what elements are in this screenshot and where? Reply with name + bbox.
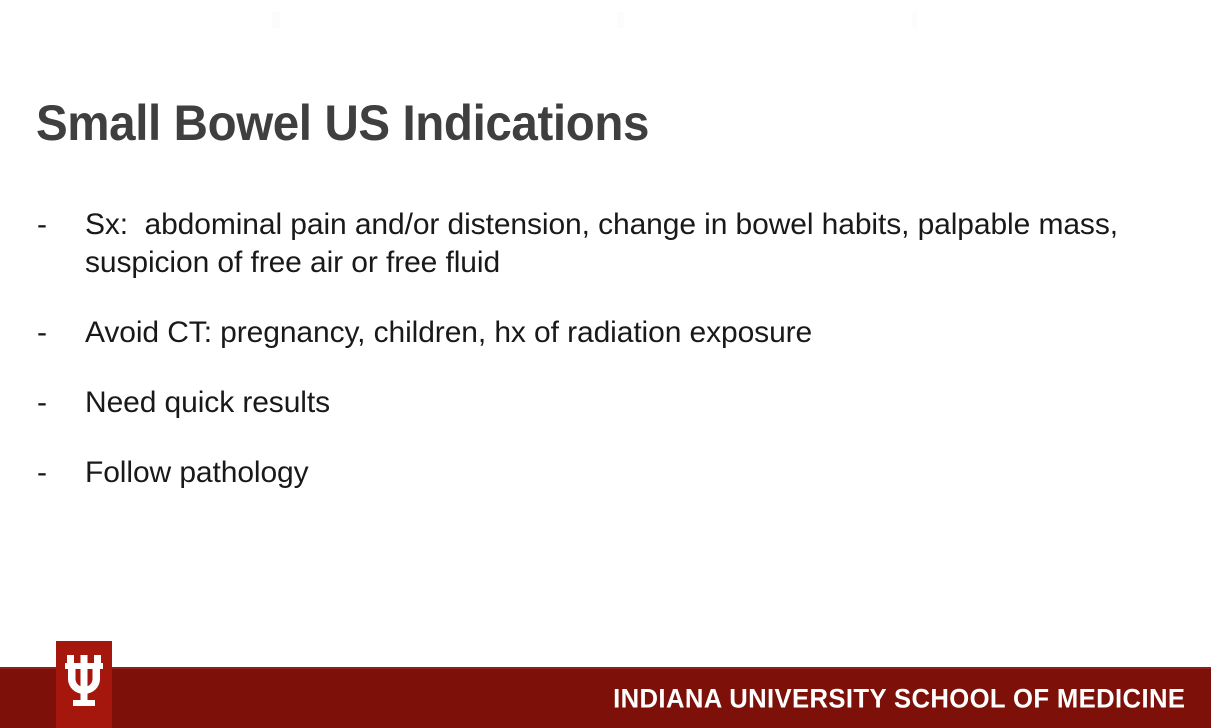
slide: Small Bowel US Indications - Sx: abdomin… — [0, 0, 1211, 728]
bullet-marker: - — [37, 206, 57, 244]
list-item: - Need quick results — [36, 384, 1156, 422]
bullet-text: Avoid CT: pregnancy, children, hx of rad… — [85, 314, 1156, 352]
list-item: - Follow pathology — [36, 454, 1156, 492]
list-item: - Avoid CT: pregnancy, children, hx of r… — [36, 314, 1156, 352]
bullet-text: Need quick results — [85, 384, 1156, 422]
iu-logo-block — [56, 641, 112, 728]
footer-organization-name: INDIANA UNIVERSITY SCHOOL OF MEDICINE — [613, 683, 1185, 714]
bullet-text: Follow pathology — [85, 454, 1156, 492]
slide-title: Small Bowel US Indications — [36, 94, 649, 152]
scan-artifact — [617, 12, 624, 28]
iu-trident-icon — [65, 655, 103, 707]
scan-artifact — [272, 12, 280, 28]
footer-bar: INDIANA UNIVERSITY SCHOOL OF MEDICINE — [0, 667, 1211, 728]
bullet-marker: - — [37, 314, 57, 352]
bullet-text: Sx: abdominal pain and/or distension, ch… — [85, 206, 1156, 282]
bullet-marker: - — [37, 454, 57, 492]
scan-artifact — [912, 12, 917, 28]
bullet-marker: - — [37, 384, 57, 422]
list-item: - Sx: abdominal pain and/or distension, … — [36, 206, 1156, 282]
bullet-list: - Sx: abdominal pain and/or distension, … — [36, 206, 1156, 492]
